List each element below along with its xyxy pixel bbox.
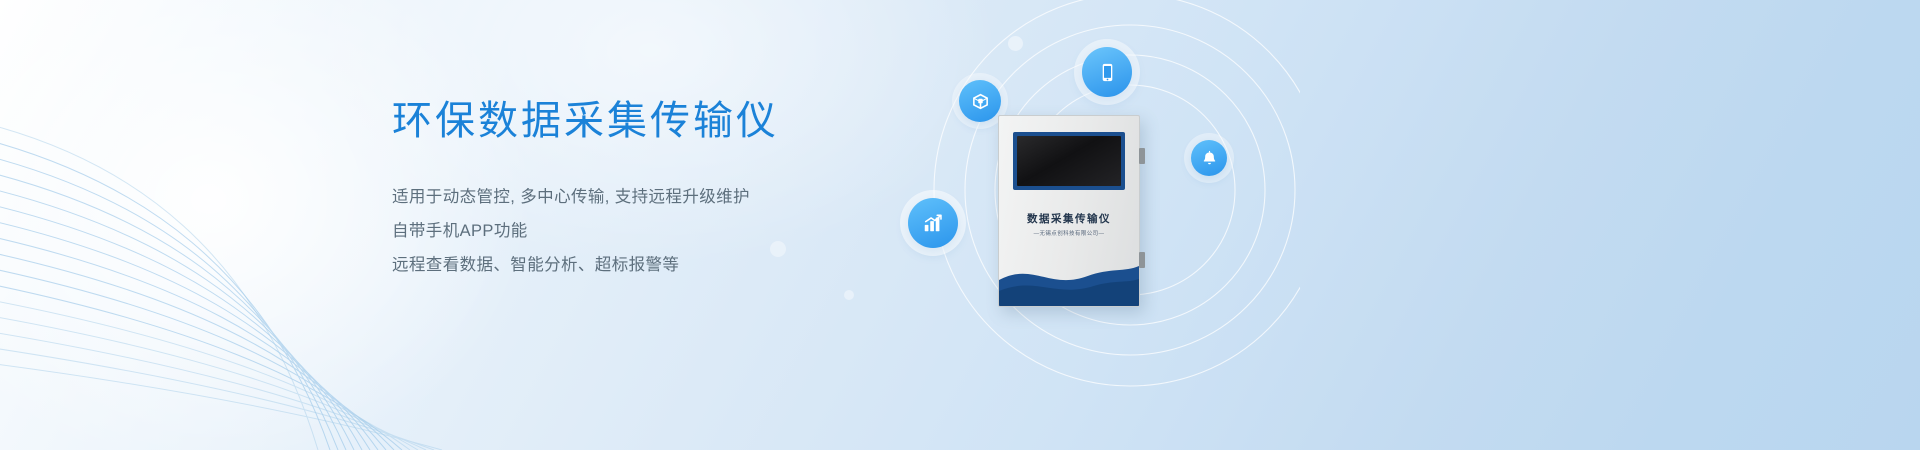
bar-chart-icon-glyph xyxy=(922,212,944,234)
banner-copy: 环保数据采集传输仪 适用于动态管控, 多中心传输, 支持远程升级维护 自带手机A… xyxy=(392,98,912,283)
device-hinge-bottom xyxy=(1139,252,1145,268)
alarm-icon-glyph xyxy=(1201,150,1218,167)
product-visual: 数据采集传输仪 —无锡点创科技有限公司— xyxy=(880,0,1300,450)
cube-icon[interactable] xyxy=(959,80,1001,122)
product-banner: 环保数据采集传输仪 适用于动态管控, 多中心传输, 支持远程升级维护 自带手机A… xyxy=(0,0,1920,450)
smartphone-icon[interactable] xyxy=(1082,47,1132,97)
product-device: 数据采集传输仪 —无锡点创科技有限公司— xyxy=(998,115,1140,307)
alarm-icon[interactable] xyxy=(1191,140,1227,176)
device-company-label: —无锡点创科技有限公司— xyxy=(999,229,1139,237)
ambient-dot-3 xyxy=(844,290,854,300)
ambient-dot-2 xyxy=(770,241,786,257)
page-title: 环保数据采集传输仪 xyxy=(392,98,912,145)
banner-subtitle: 适用于动态管控, 多中心传输, 支持远程升级维护 自带手机APP功能 远程查看数… xyxy=(392,181,912,282)
smartphone-icon-glyph xyxy=(1097,62,1118,83)
device-brand-label: 数据采集传输仪 xyxy=(999,211,1139,226)
subtitle-line-2: 自带手机APP功能 xyxy=(392,215,912,249)
subtitle-line-1: 适用于动态管控, 多中心传输, 支持远程升级维护 xyxy=(392,181,912,215)
cube-icon-glyph xyxy=(971,92,990,111)
device-hinge-top xyxy=(1139,148,1145,164)
device-screen-bezel xyxy=(1013,132,1125,190)
bar-chart-icon[interactable] xyxy=(908,198,958,248)
ambient-dot-1 xyxy=(1008,36,1023,51)
device-screen xyxy=(1017,136,1121,186)
device-wave-footer xyxy=(999,250,1139,306)
subtitle-line-3: 远程查看数据、智能分析、超标报警等 xyxy=(392,249,912,283)
